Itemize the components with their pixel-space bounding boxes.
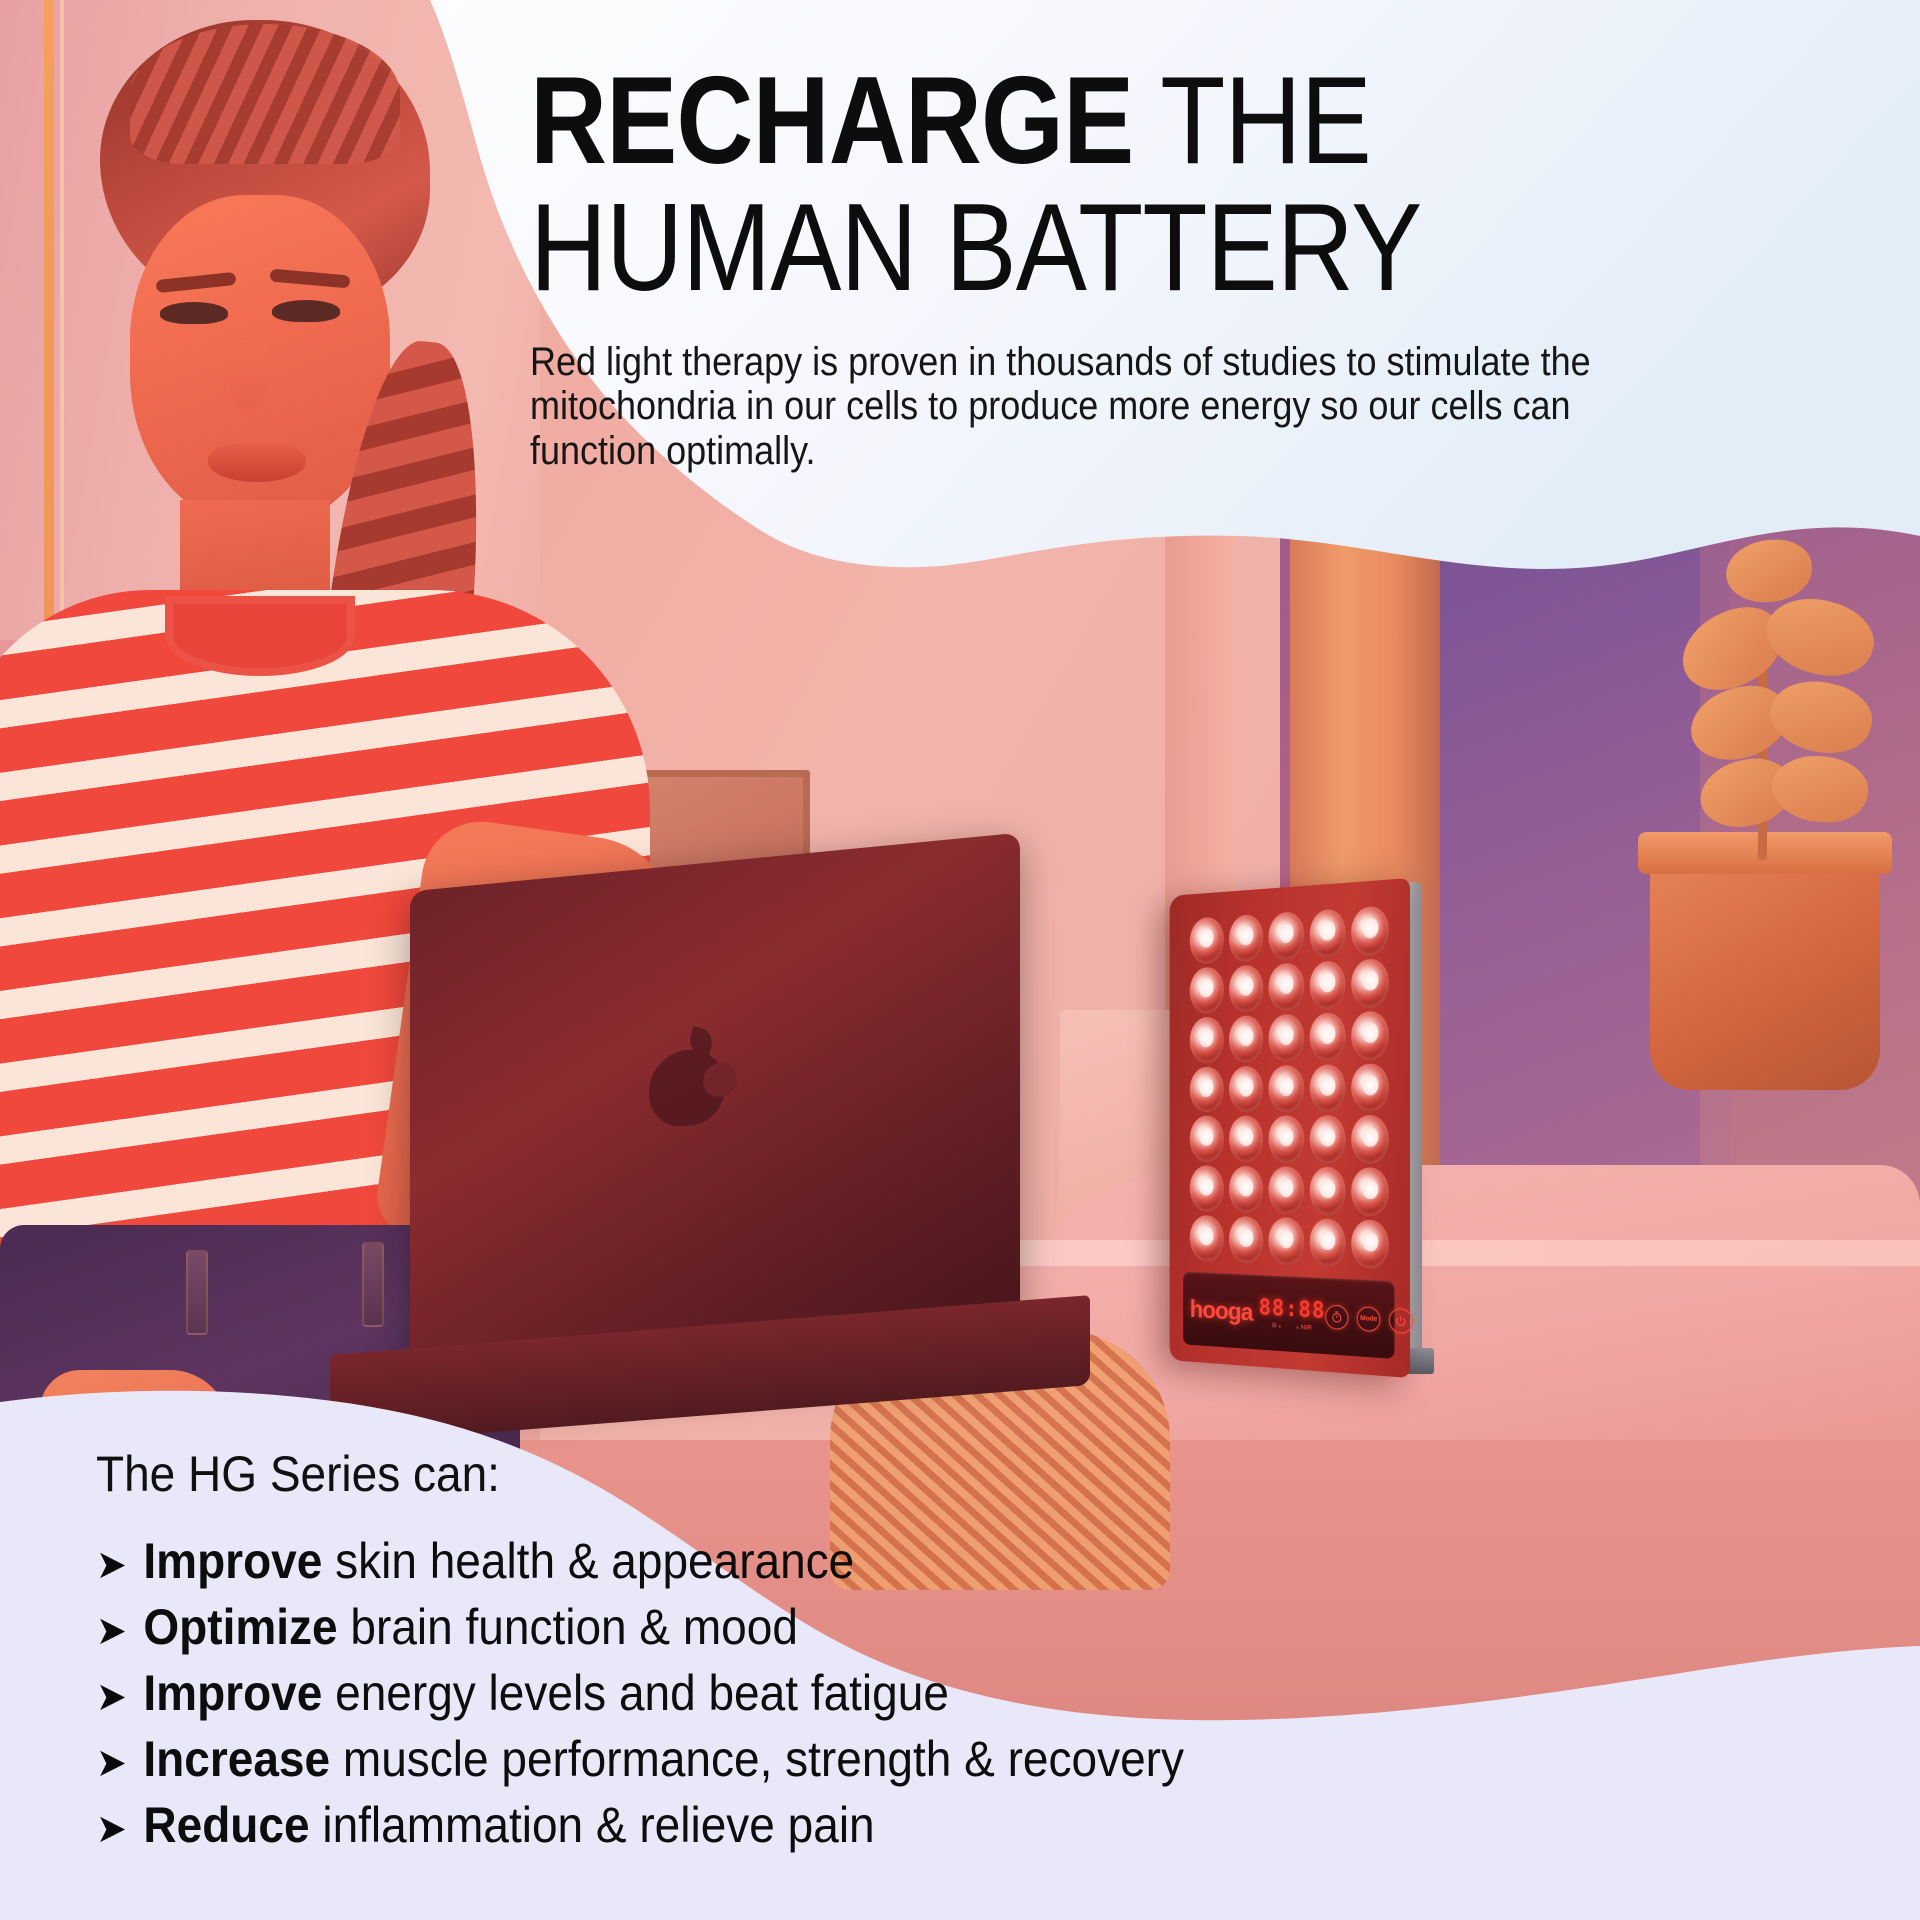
device-buttons: Mode bbox=[1325, 1304, 1413, 1334]
led-lens bbox=[1229, 1216, 1264, 1264]
list-item: ➤ Optimize brain function & mood bbox=[96, 1601, 1476, 1654]
benefit-detail: inflammation & relieve pain bbox=[310, 1797, 875, 1853]
led-lens bbox=[1352, 1063, 1389, 1112]
apple-logo-icon bbox=[645, 1026, 729, 1130]
led-lens bbox=[1269, 1013, 1304, 1061]
benefit-detail: brain function & mood bbox=[338, 1599, 798, 1655]
mode-button-label: Mode bbox=[1360, 1315, 1377, 1323]
wavelength-indicators: R NIR bbox=[1272, 1322, 1312, 1331]
indicator-r-label: R bbox=[1272, 1322, 1277, 1329]
indicator-nir-dot bbox=[1296, 1326, 1299, 1329]
timer-button[interactable] bbox=[1325, 1304, 1348, 1330]
headline-bold: RECHARGE bbox=[530, 52, 1133, 190]
benefit-text: Improve skin health & appearance bbox=[143, 1535, 854, 1588]
benefit-text: Increase muscle performance, strength & … bbox=[143, 1733, 1184, 1786]
led-lens bbox=[1352, 1168, 1389, 1217]
led-lens bbox=[1310, 1064, 1346, 1112]
list-item: ➤ Improve skin health & appearance bbox=[96, 1535, 1476, 1588]
led-lens bbox=[1190, 1166, 1224, 1213]
red-light-therapy-device: hooga 88:88 R NIR bbox=[1142, 878, 1442, 1378]
led-lens bbox=[1352, 958, 1389, 1008]
arrow-icon: ➤ bbox=[96, 1611, 127, 1651]
top-headline-panel: RECHARGE THE HUMAN BATTERY Red light the… bbox=[0, 0, 1920, 620]
led-lens bbox=[1190, 966, 1224, 1013]
indicator-r-dot bbox=[1278, 1324, 1281, 1327]
mode-button[interactable]: Mode bbox=[1357, 1306, 1381, 1332]
timer-display: 88:88 bbox=[1259, 1297, 1326, 1323]
led-lens bbox=[1269, 1116, 1304, 1163]
benefit-keyword: Increase bbox=[143, 1731, 330, 1787]
benefits-panel: The HG Series can: ➤ Improve skin health… bbox=[0, 1340, 1920, 1920]
led-lens bbox=[1190, 1215, 1224, 1262]
plant-pot bbox=[1650, 840, 1880, 1090]
arrow-icon: ➤ bbox=[96, 1743, 127, 1783]
benefit-text: Optimize brain function & mood bbox=[143, 1601, 798, 1654]
device-led-panel: hooga 88:88 R NIR bbox=[1170, 878, 1410, 1378]
led-lens bbox=[1352, 905, 1389, 955]
headline-block: RECHARGE THE HUMAN BATTERY Red light the… bbox=[530, 62, 1890, 474]
subcopy-paragraph: Red light therapy is proven in thousands… bbox=[530, 340, 1592, 474]
arrow-icon: ➤ bbox=[96, 1677, 127, 1717]
indicator-r: R bbox=[1272, 1322, 1281, 1329]
led-grid bbox=[1190, 905, 1389, 1269]
belt-loop bbox=[362, 1242, 384, 1327]
benefits-heading: The HG Series can: bbox=[96, 1445, 1476, 1503]
benefit-keyword: Improve bbox=[143, 1533, 322, 1589]
led-lens bbox=[1310, 1167, 1346, 1215]
timer-icon bbox=[1331, 1310, 1343, 1323]
led-lens bbox=[1310, 1116, 1346, 1164]
led-lens bbox=[1229, 914, 1264, 963]
led-lens bbox=[1229, 1015, 1264, 1062]
led-lens bbox=[1269, 962, 1304, 1011]
led-lens bbox=[1269, 1065, 1304, 1112]
led-lens bbox=[1229, 1166, 1264, 1213]
benefits-content: The HG Series can: ➤ Improve skin health… bbox=[96, 1445, 1596, 1865]
led-lens bbox=[1352, 1010, 1389, 1059]
infographic-canvas: hooga 88:88 R NIR bbox=[0, 0, 1920, 1920]
benefit-text: Improve energy levels and beat fatigue bbox=[143, 1667, 949, 1720]
led-lens bbox=[1310, 908, 1346, 958]
table-edge bbox=[980, 1240, 1920, 1266]
benefit-keyword: Optimize bbox=[143, 1599, 337, 1655]
led-lens bbox=[1310, 1218, 1346, 1267]
headline-light: THE bbox=[1133, 52, 1371, 190]
led-lens bbox=[1269, 1217, 1304, 1265]
led-lens bbox=[1352, 1220, 1389, 1270]
benefit-keyword: Improve bbox=[143, 1665, 322, 1721]
led-lens bbox=[1190, 1116, 1224, 1162]
led-lens bbox=[1229, 1116, 1264, 1163]
led-lens bbox=[1190, 1016, 1224, 1063]
benefit-detail: muscle performance, strength & recovery bbox=[330, 1731, 1184, 1787]
benefit-text: Reduce inflammation & relieve pain bbox=[143, 1799, 874, 1852]
led-lens bbox=[1269, 1167, 1304, 1215]
indicator-nir-label: NIR bbox=[1301, 1324, 1312, 1331]
led-lens bbox=[1229, 1065, 1264, 1112]
led-lens bbox=[1310, 960, 1346, 1009]
benefit-keyword: Reduce bbox=[143, 1797, 309, 1853]
list-item: ➤ Increase muscle performance, strength … bbox=[96, 1733, 1476, 1786]
page-title-line2: HUMAN BATTERY bbox=[530, 185, 1700, 311]
benefit-detail: energy levels and beat fatigue bbox=[322, 1665, 949, 1721]
led-lens bbox=[1310, 1012, 1346, 1061]
arrow-icon: ➤ bbox=[96, 1809, 127, 1849]
belt-loop bbox=[186, 1250, 208, 1335]
indicator-nir: NIR bbox=[1296, 1324, 1311, 1332]
benefit-detail: skin health & appearance bbox=[322, 1533, 854, 1589]
hooga-brand-logo: hooga bbox=[1190, 1296, 1253, 1324]
list-item: ➤ Reduce inflammation & relieve pain bbox=[96, 1799, 1476, 1852]
power-button[interactable] bbox=[1389, 1307, 1413, 1333]
led-lens bbox=[1190, 1066, 1224, 1112]
benefits-list: ➤ Improve skin health & appearance ➤ Opt… bbox=[96, 1535, 1596, 1852]
led-lens bbox=[1190, 916, 1224, 964]
led-display-group: 88:88 R NIR bbox=[1259, 1297, 1326, 1333]
power-icon bbox=[1395, 1314, 1407, 1328]
led-lens bbox=[1352, 1116, 1389, 1165]
arrow-icon: ➤ bbox=[96, 1545, 127, 1585]
list-item: ➤ Improve energy levels and beat fatigue bbox=[96, 1667, 1476, 1720]
led-lens bbox=[1269, 911, 1304, 960]
led-lens bbox=[1229, 964, 1264, 1012]
page-title: RECHARGE THE bbox=[530, 62, 1700, 181]
